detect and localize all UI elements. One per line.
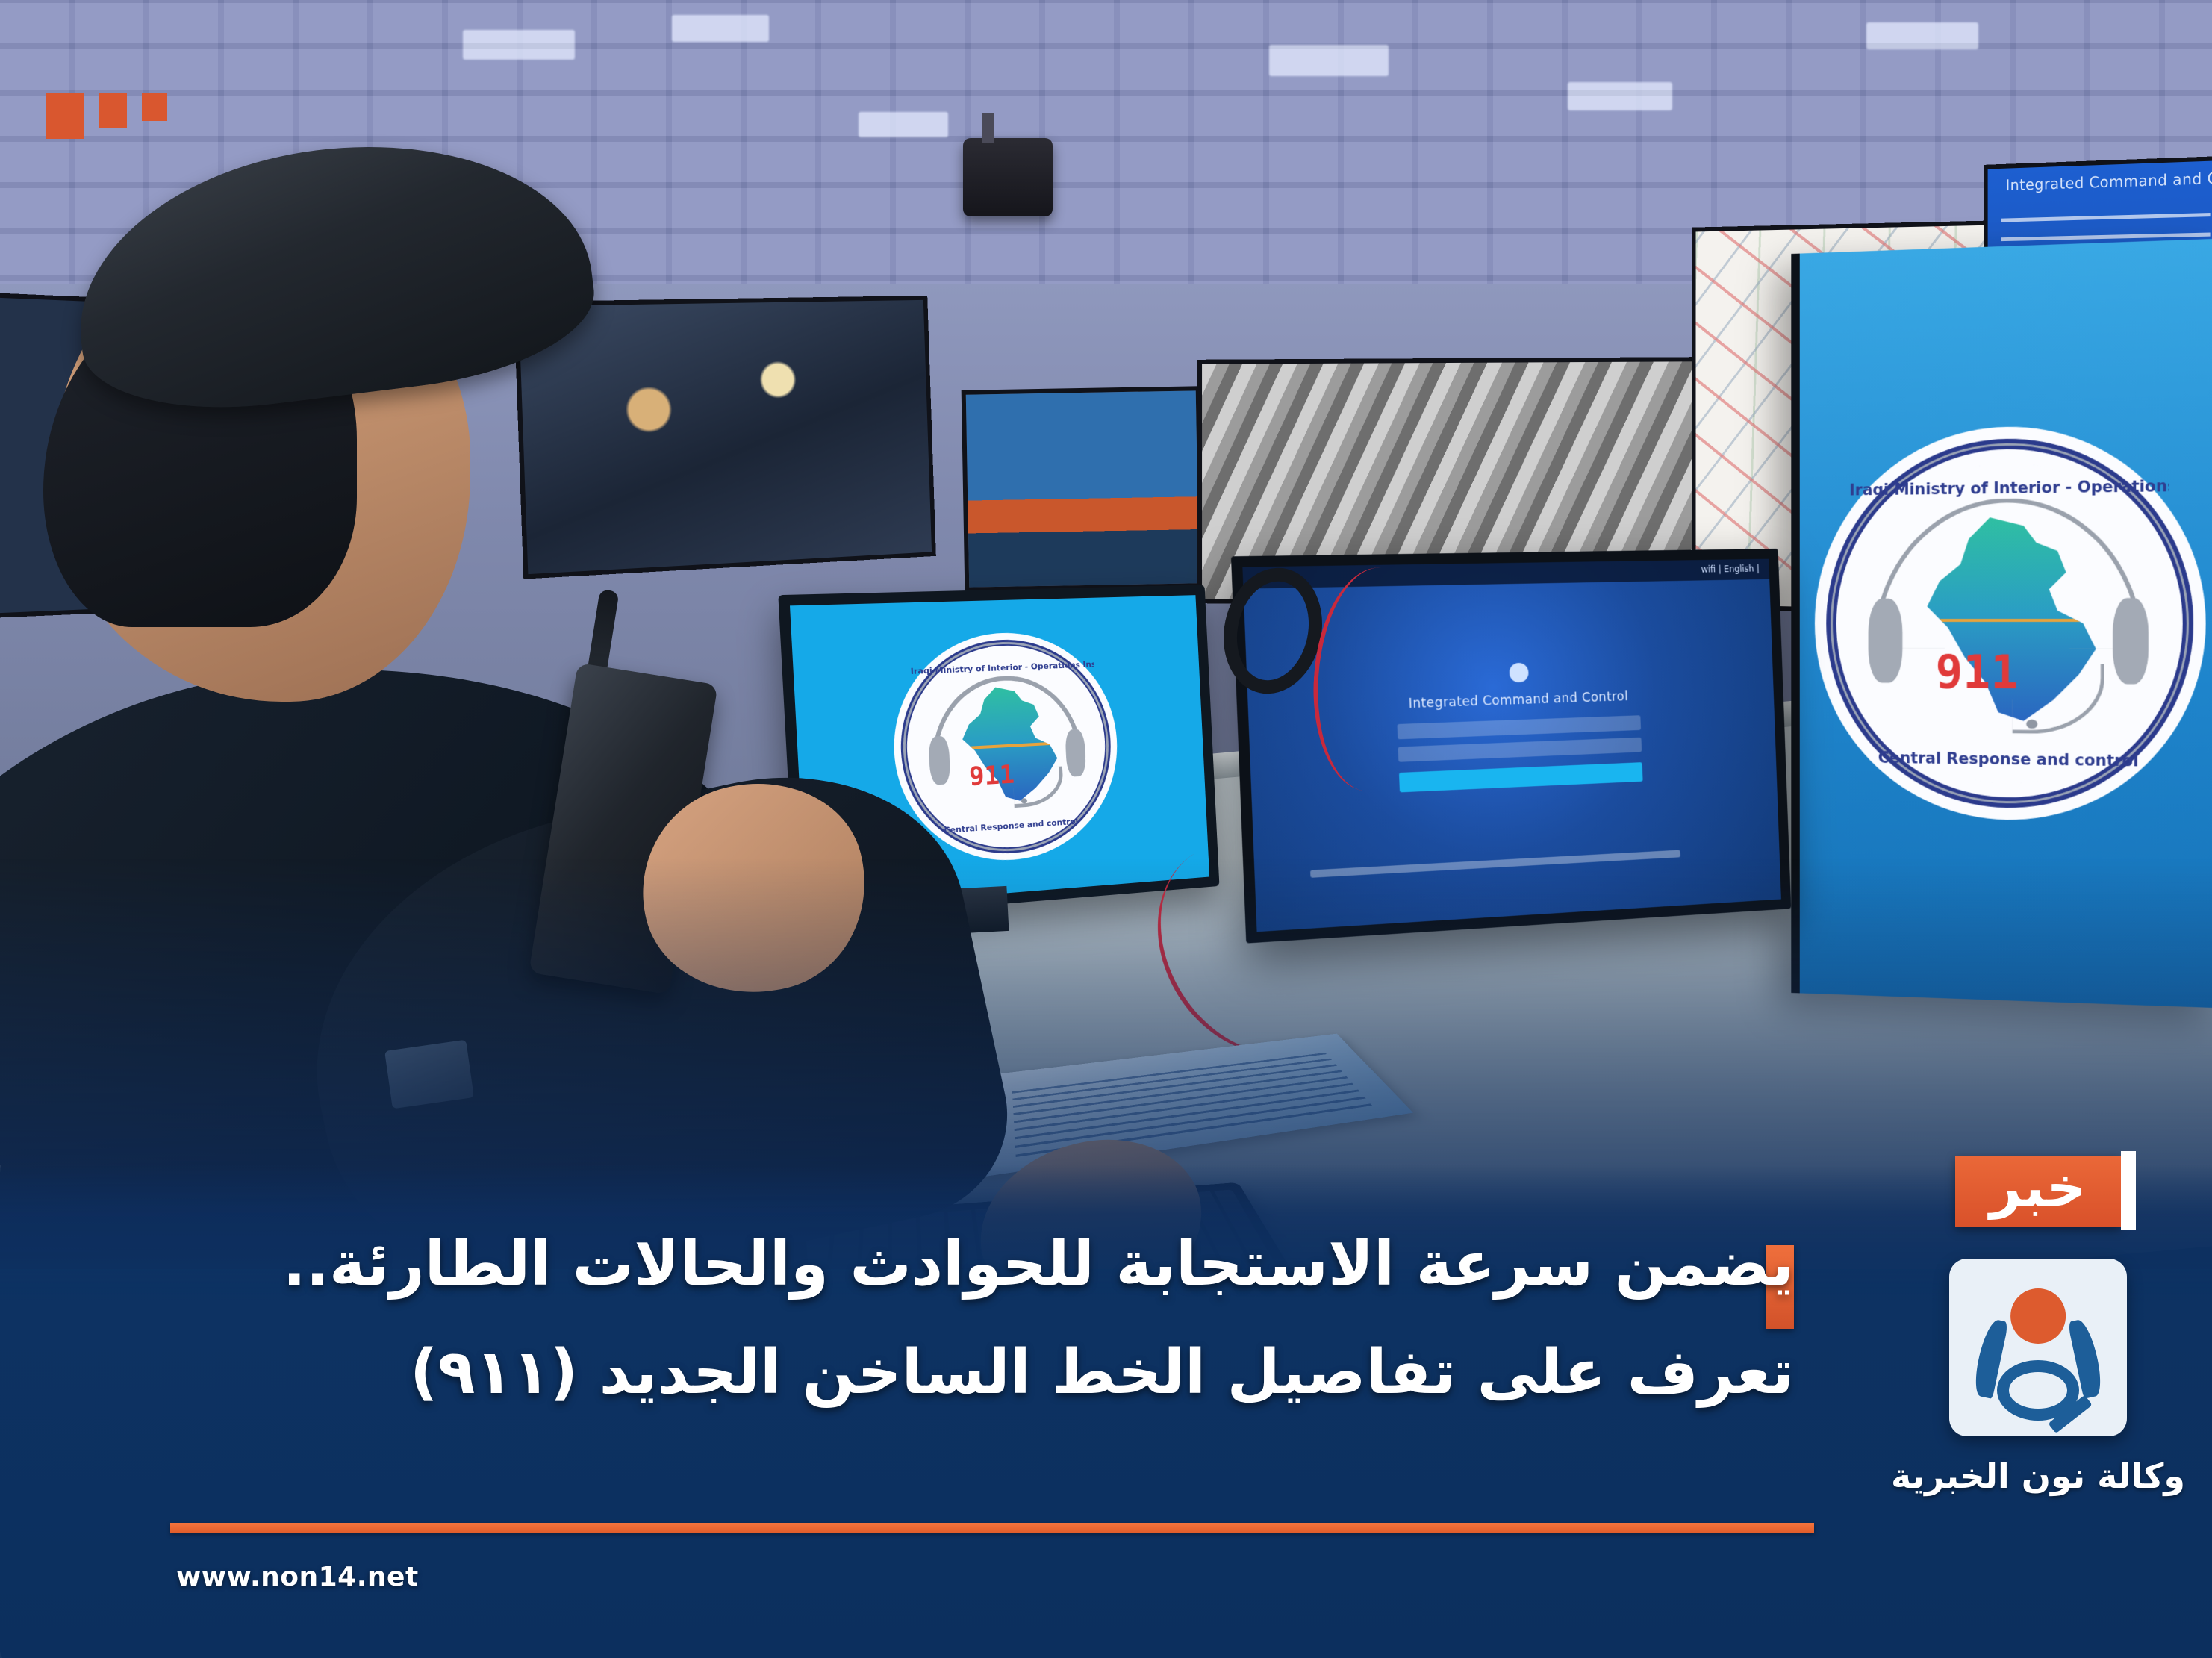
ceiling-projector	[963, 138, 1053, 216]
emblem-number: 911	[1936, 645, 2019, 699]
video-wall-panel-street	[514, 296, 936, 579]
iraq-map-shape	[946, 685, 1069, 810]
institute-emblem-large: Iraqi Ministry of Interior - Operations …	[1849, 461, 2169, 787]
username-field[interactable]	[1397, 715, 1641, 739]
emblem-bottom-text: Central Response and control	[1849, 748, 2169, 770]
video-wall-panel-news	[962, 386, 1204, 592]
dashboard-title: Integrated Command and Control	[2006, 167, 2212, 194]
orange-divider	[170, 1523, 1814, 1533]
brand-block: خبر وكالة نون الخبرية	[1889, 1156, 2187, 1496]
control-room-photo: Integrated Command and Control Iraqi Min…	[0, 0, 2212, 1269]
noon-agency-logo	[1949, 1259, 2127, 1436]
agency-name: وكالة نون الخبرية	[1889, 1456, 2187, 1496]
three-bars-watermark	[46, 93, 167, 139]
login-topbar: wifi | English |	[1242, 559, 1769, 589]
user-avatar-icon	[1509, 663, 1529, 683]
password-field[interactable]	[1398, 738, 1642, 762]
institute-emblem-small: Iraqi Ministry of Interior - Operations …	[910, 650, 1103, 847]
news-badge: خبر	[1955, 1156, 2121, 1227]
site-url[interactable]: www.non14.net	[176, 1562, 419, 1592]
headline-line-1: يضمن سرعة الاستجابة للحوادث والحالات الط…	[99, 1217, 1794, 1312]
headline-line-2: تعرف على تفاصيل الخط الساخن الجديد (٩١١)	[99, 1325, 1794, 1420]
emblem-top-text: Iraqi Ministry of Interior - Operations …	[1849, 476, 2169, 498]
login-button[interactable]	[1399, 762, 1643, 792]
login-title: Integrated Command and Control	[1396, 689, 1640, 712]
emblem-number: 911	[968, 759, 1015, 792]
ekg-line	[939, 741, 1075, 751]
ekg-line	[1886, 619, 2131, 622]
headline: يضمن سرعة الاستجابة للحوادث والحالات الط…	[99, 1217, 1794, 1420]
news-card: Integrated Command and Control Iraqi Min…	[0, 0, 2212, 1658]
logo-head-circle	[2010, 1288, 2066, 1344]
